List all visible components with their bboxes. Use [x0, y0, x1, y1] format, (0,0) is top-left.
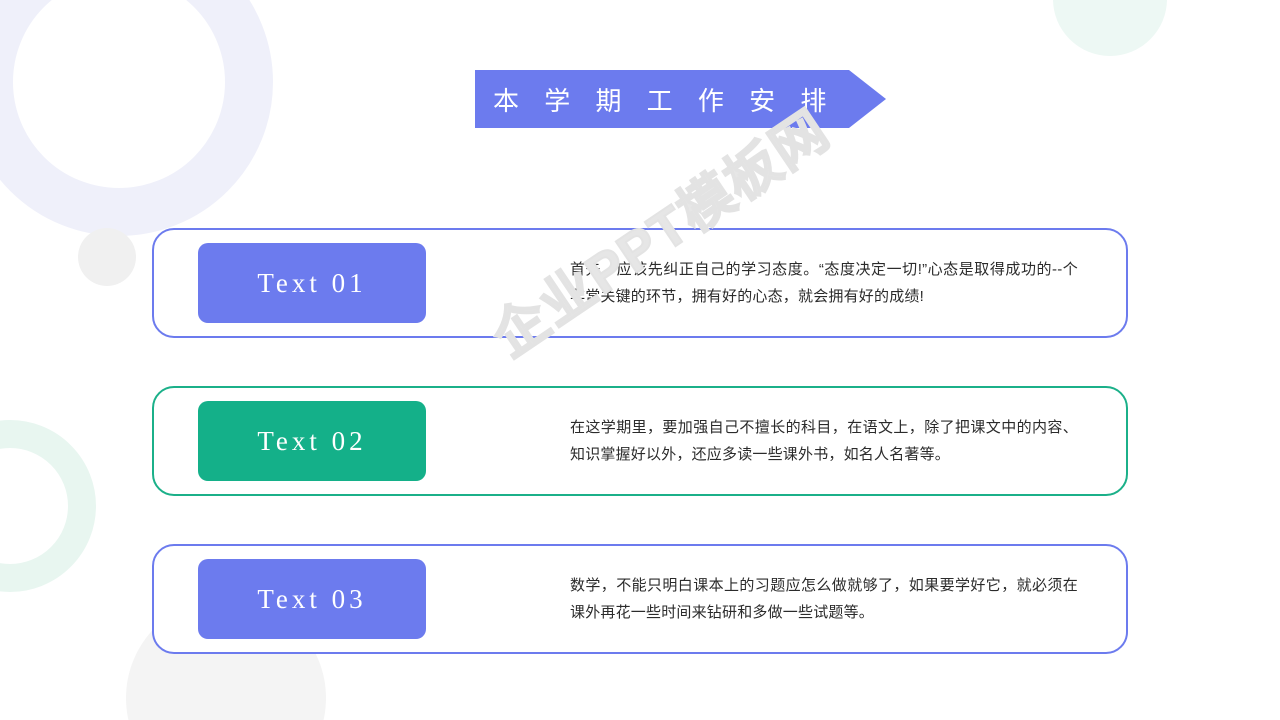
title-banner-body: 本 学 期 工 作 安 排: [475, 70, 849, 128]
ring-mint-left-decoration: [0, 420, 96, 592]
content-row-3[interactable]: Text 03 数学，不能只明白课本上的习题应怎么做就够了，如果要学好它，就必须…: [152, 544, 1128, 654]
row-3-badge-label: Text 03: [257, 584, 366, 615]
row-3-body-text: 数学，不能只明白课本上的习题应怎么做就够了，如果要学好它，就必须在课外再花一些时…: [570, 572, 1078, 626]
title-banner: 本 学 期 工 作 安 排: [475, 70, 886, 128]
page-title: 本 学 期 工 作 安 排: [493, 81, 835, 118]
dot-gray-small-left-decoration: [78, 228, 136, 286]
row-2-badge-label: Text 02: [257, 426, 366, 457]
title-banner-arrow-tip-icon: [849, 70, 886, 128]
row-1-badge[interactable]: Text 01: [198, 243, 426, 323]
row-3-badge[interactable]: Text 03: [198, 559, 426, 639]
row-2-badge[interactable]: Text 02: [198, 401, 426, 481]
dot-mint-top-right-decoration: [1053, 0, 1167, 56]
row-1-badge-label: Text 01: [257, 268, 366, 299]
slide-canvas: 本 学 期 工 作 安 排 Text 01 首先，应该先纠正自己的学习态度。“态…: [0, 0, 1280, 720]
ring-lavender-top-left-decoration: [0, 0, 273, 236]
content-row-2[interactable]: Text 02 在这学期里，要加强自己不擅长的科目，在语文上，除了把课文中的内容…: [152, 386, 1128, 496]
content-row-1[interactable]: Text 01 首先，应该先纠正自己的学习态度。“态度决定一切!”心态是取得成功…: [152, 228, 1128, 338]
row-1-body-text: 首先，应该先纠正自己的学习态度。“态度决定一切!”心态是取得成功的--个非常关键…: [570, 256, 1078, 310]
row-2-body-text: 在这学期里，要加强自己不擅长的科目，在语文上，除了把课文中的内容、知识掌握好以外…: [570, 414, 1078, 468]
